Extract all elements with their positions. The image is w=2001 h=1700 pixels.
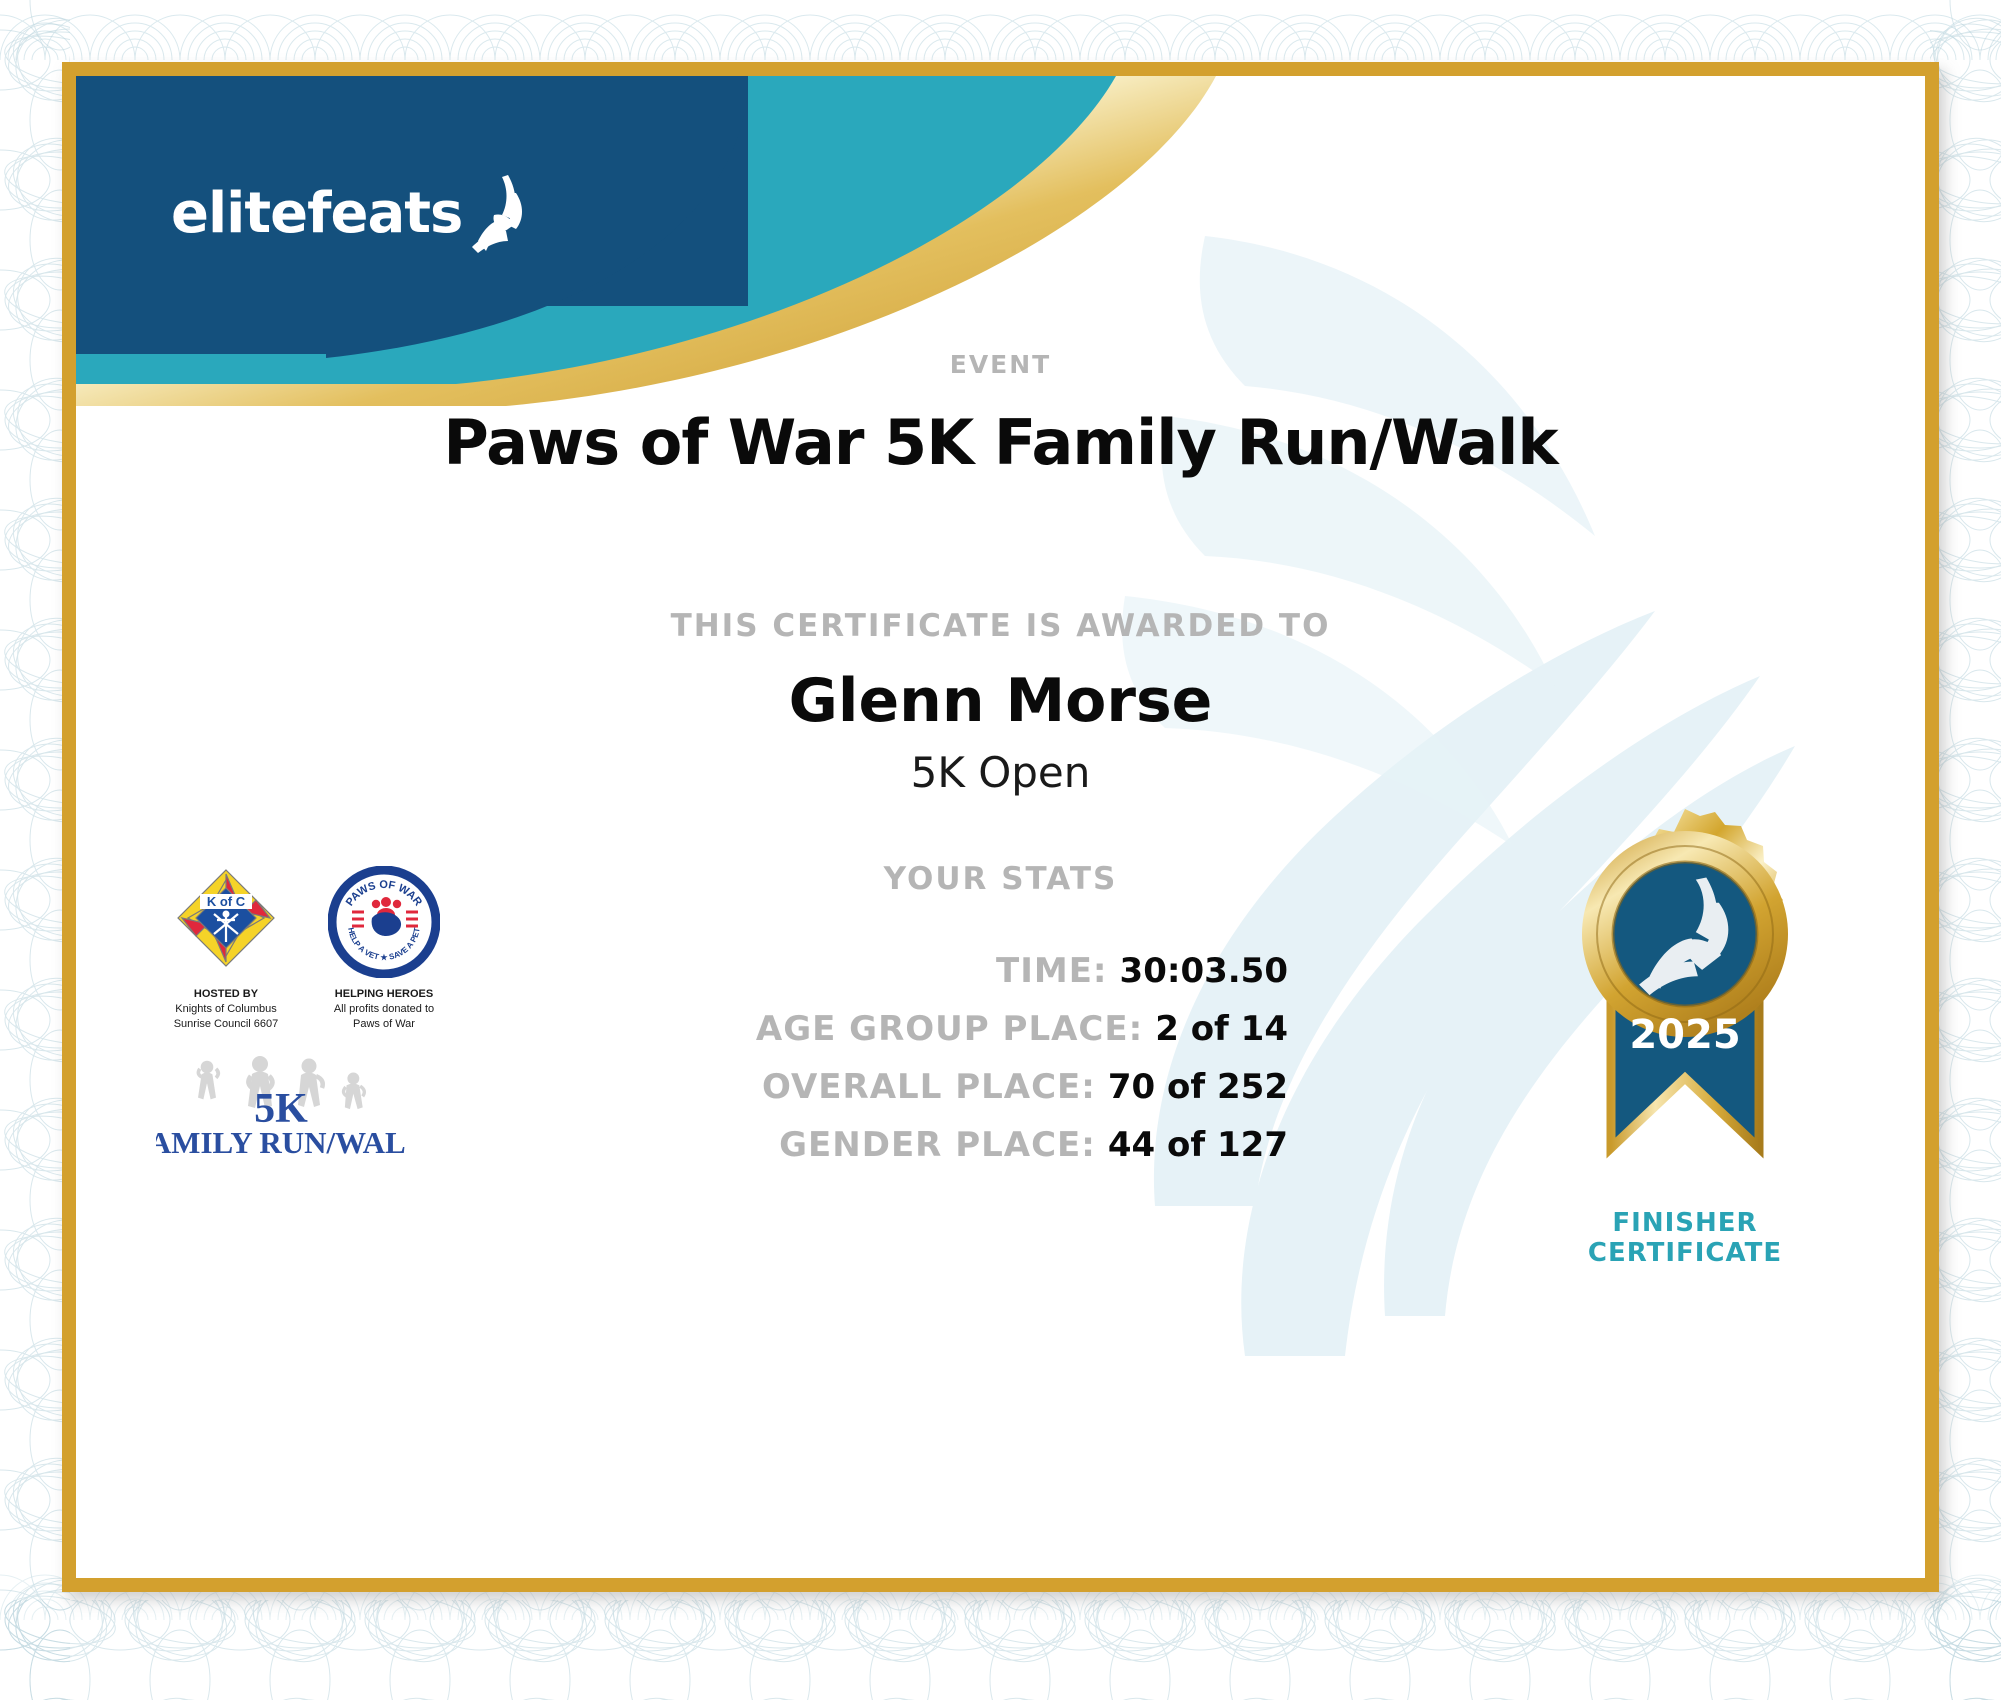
stat-key: OVERALL PLACE: [762,1067,1096,1107]
elitefeats-logo: elitefeats [171,171,536,255]
finisher-medal-badge: 2025 FINISHER CERTIFICATE [1545,796,1825,1269]
knights-of-columbus-emblem-icon: K of C [167,866,285,978]
sponsor-caption-line1: Knights of Columbus [175,1003,277,1015]
sponsor-caption-line2: Paws of War [353,1018,415,1030]
svg-text:K of C: K of C [207,894,246,909]
stat-key: AGE GROUP PLACE: [756,1009,1143,1049]
event-label: EVENT [76,350,1925,379]
paws-of-war-emblem-icon: PAWS OF WAR HELP A VET ★ SAVE A PET [328,866,440,978]
sponsor-caption-line2: Sunrise Council 6607 [174,1018,279,1030]
finisher-line2: CERTIFICATE [1545,1239,1825,1269]
stat-value: 30:03.50 [1120,951,1288,991]
finisher-line1: FINISHER [1545,1209,1825,1239]
sponsor-caption: HOSTED BY Knights of Columbus Sunrise Co… [156,987,296,1032]
family-run-walk-logo-icon: 5K FAMILY RUN/WALK [156,1054,406,1159]
sponsor-logos: K of C HOSTED BY Knights of Columbus Sun… [156,866,486,1164]
event-title: Paws of War 5K Family Run/Walk [76,406,1925,479]
certificate-card: elitefeats EVENT Paws of War 5K Family R… [62,62,1939,1592]
sponsor-paws-of-war: PAWS OF WAR HELP A VET ★ SAVE A PET [314,866,454,1032]
stat-value: 44 of 127 [1108,1125,1288,1165]
medal-year: 2025 [1629,1012,1740,1058]
sponsor-caption-bold: HELPING HEROES [335,988,433,1000]
gold-medal-ribbon-icon: 2025 [1545,796,1825,1196]
brand-wordmark: elitefeats [171,181,462,246]
sponsor-knights-of-columbus: K of C HOSTED BY Knights of Columbus Sun… [156,866,296,1032]
winged-foot-icon [464,171,536,255]
finisher-certificate-caption: FINISHER CERTIFICATE [1545,1209,1825,1269]
event-logo-line2: FAMILY RUN/WALK [156,1125,406,1159]
stat-value: 2 of 14 [1155,1009,1288,1049]
recipient-name: Glenn Morse [76,666,1925,736]
stat-key: GENDER PLACE: [779,1125,1096,1165]
stat-value: 70 of 252 [1108,1067,1288,1107]
sponsor-caption-bold: HOSTED BY [194,988,258,1000]
awarded-to-label: THIS CERTIFICATE IS AWARDED TO [76,608,1925,644]
sponsor-caption-line1: All profits donated to [334,1003,434,1015]
stat-key: TIME: [996,951,1108,991]
sponsor-caption: HELPING HEROES All profits donated to Pa… [314,987,454,1032]
recipient-division: 5K Open [76,748,1925,797]
